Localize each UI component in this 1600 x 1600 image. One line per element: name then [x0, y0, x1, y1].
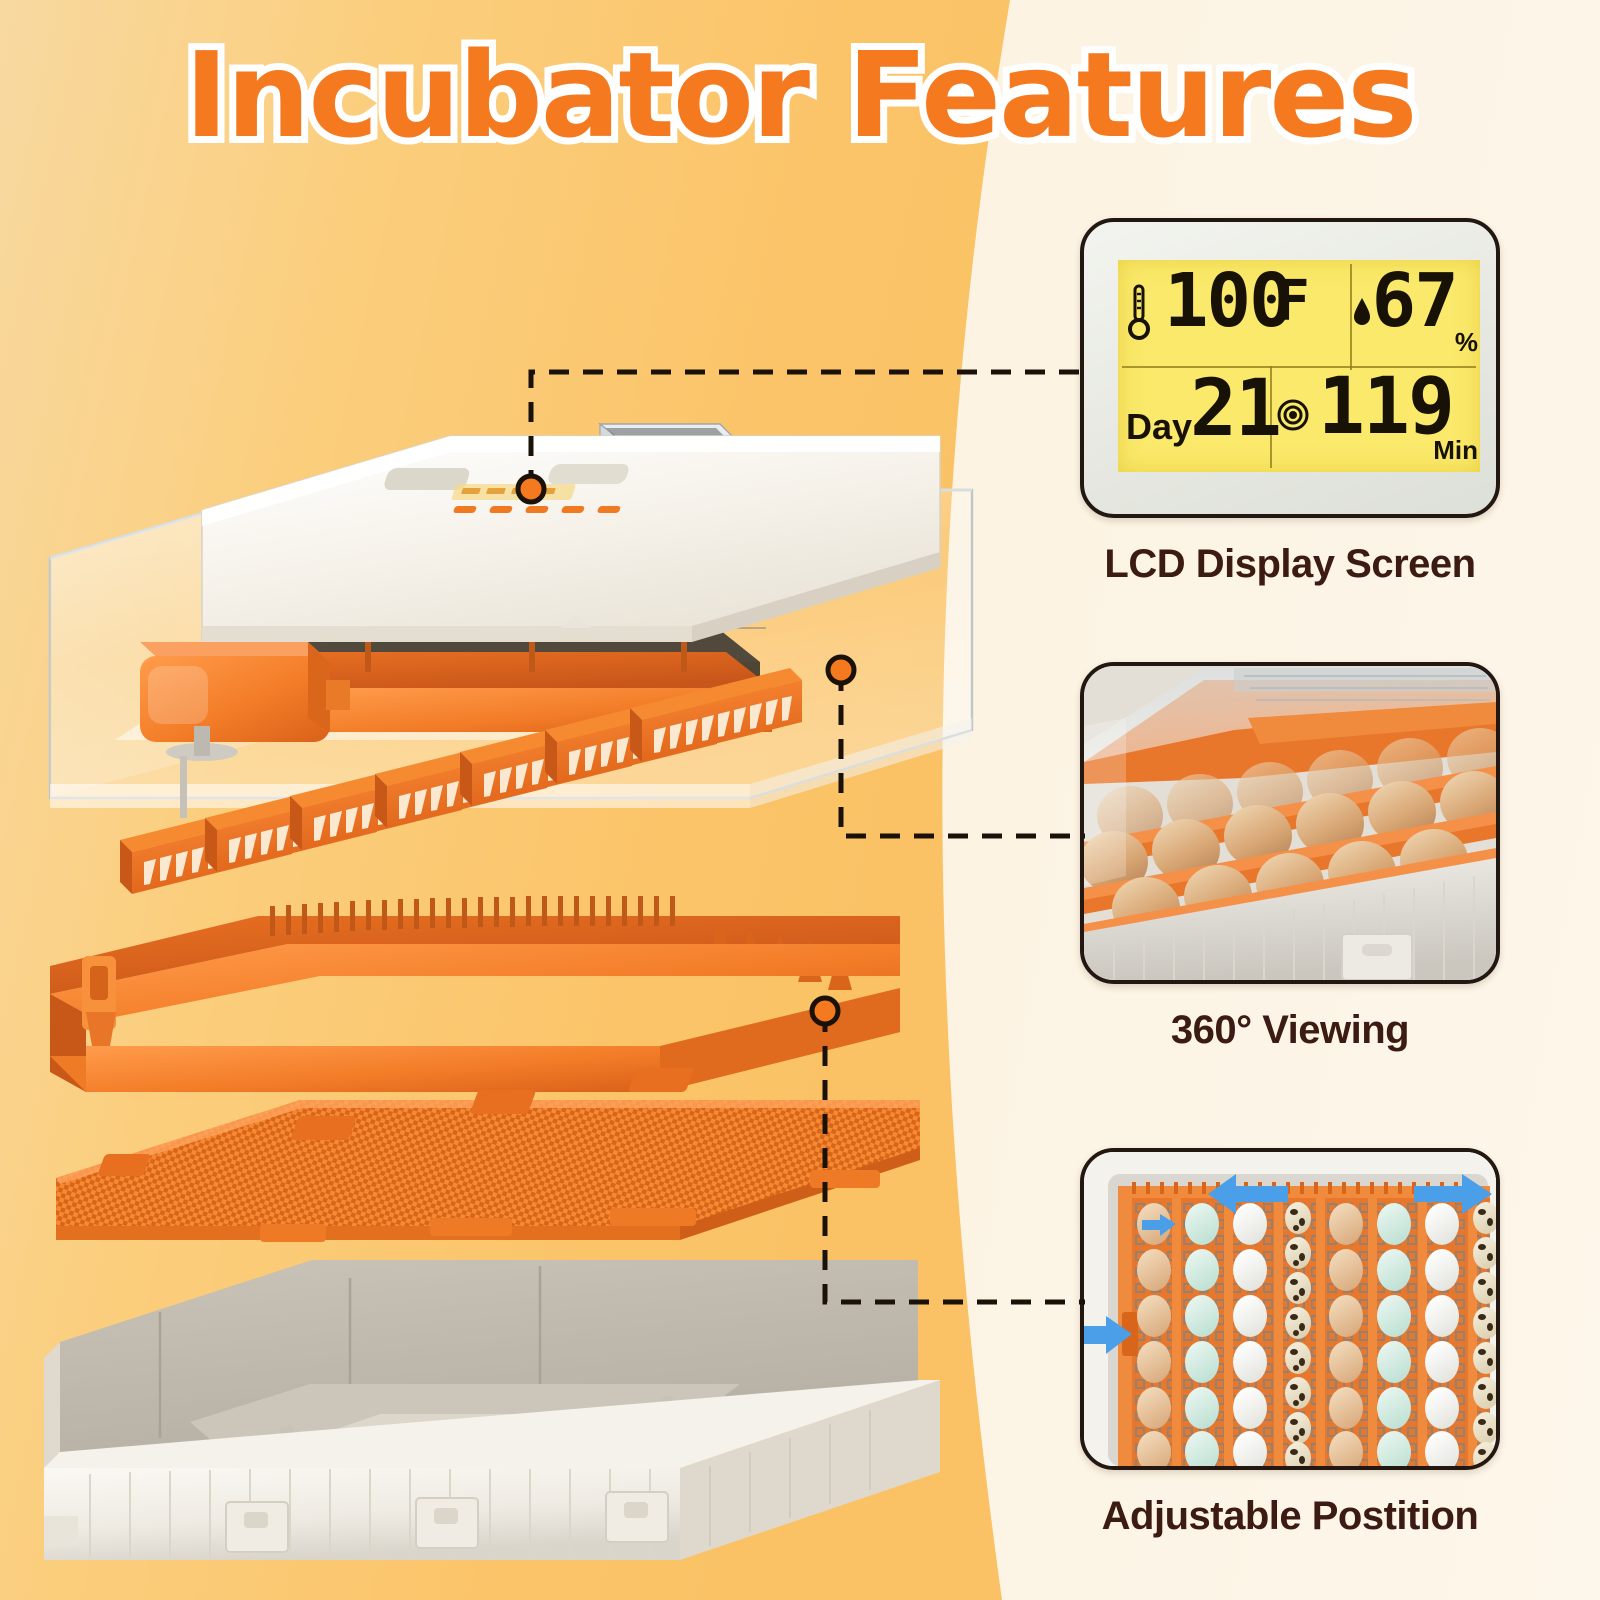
- feature-card-adjustable-position: Adjustable Postition: [1080, 1148, 1500, 1539]
- feature-caption-adjustable-position: Adjustable Postition: [1080, 1494, 1500, 1539]
- feature-card-lcd-display: 100 F 67 % Day 21: [1080, 218, 1500, 587]
- page-title: Incubator Features: [184, 34, 1415, 158]
- lcd-device-frame: 100 F 67 % Day 21: [1080, 218, 1500, 518]
- egg-turning-icon: [1276, 398, 1310, 432]
- lcd-turner-unit: Min: [1433, 435, 1478, 466]
- lcd-turner-cell: 119 Min: [1270, 366, 1480, 472]
- egg-tray-topdown-photo: [1084, 1152, 1496, 1466]
- thermometer-icon: [1126, 282, 1152, 342]
- feature-caption-lcd: LCD Display Screen: [1080, 542, 1500, 587]
- lcd-temperature-cell: 100 F: [1118, 260, 1350, 366]
- lcd-humidity-unit: %: [1455, 327, 1478, 358]
- lcd-temperature-value: 100: [1164, 264, 1292, 338]
- lcd-screen: 100 F 67 % Day 21: [1118, 260, 1480, 472]
- position-photo-frame: [1080, 1148, 1500, 1470]
- viewing-photo-frame: [1080, 662, 1500, 984]
- part-base-tray: [44, 1260, 940, 1560]
- control-lid-mini-lcd: [451, 484, 576, 500]
- lcd-day-cell: Day 21: [1118, 366, 1270, 472]
- lcd-day-label: Day: [1126, 406, 1192, 448]
- feature-card-360-viewing: 360° Viewing: [1080, 662, 1500, 1053]
- feature-caption-360-viewing: 360° Viewing: [1080, 1008, 1500, 1053]
- incubator-eggs-closeup-photo: [1084, 666, 1496, 980]
- product-exploded-view: [20, 380, 1000, 1560]
- part-tray-frame: [50, 896, 900, 1092]
- lcd-humidity-cell: 67 %: [1350, 260, 1480, 366]
- water-droplet-icon: [1352, 296, 1372, 326]
- lcd-temperature-unit: F: [1276, 274, 1308, 330]
- lcd-humidity-value: 67: [1372, 264, 1457, 338]
- lcd-day-value: 21: [1190, 370, 1280, 448]
- page-title-wrap: Incubator Features: [0, 34, 1600, 158]
- part-mesh-mat: [56, 1068, 920, 1242]
